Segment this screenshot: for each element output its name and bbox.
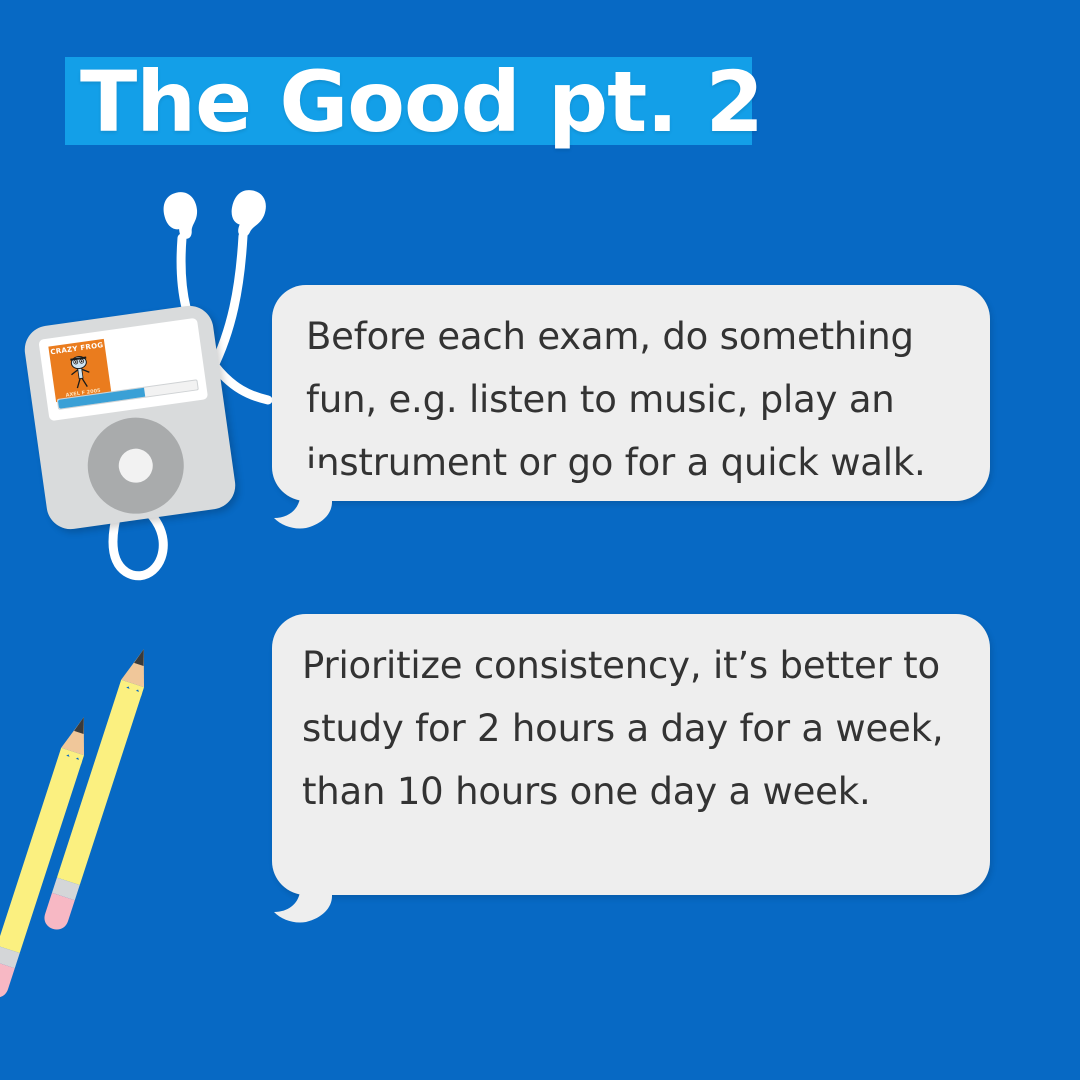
tip-bubble-1-text: Before each exam, do something fun, e.g.… (306, 305, 956, 494)
tip-bubble-1-tail (272, 468, 350, 530)
tip-bubble-2-text: Prioritize consistency, it’s better to s… (302, 634, 960, 823)
tip-bubble-1: Before each exam, do something fun, e.g.… (272, 285, 990, 501)
page-title: The Good pt. 2 (80, 47, 780, 157)
pencils-illustration (10, 630, 270, 1000)
album-title: CRAZY FROG (49, 341, 106, 357)
tip-bubble-2: Prioritize consistency, it’s better to s… (272, 614, 990, 895)
ipod-center-button[interactable] (117, 446, 155, 484)
tip-bubble-2-tail (272, 862, 350, 924)
poster-canvas: The Good pt. 2 CRAZY FROG (0, 0, 1080, 1080)
ipod-body: CRAZY FROG AXEL F 2005 (22, 303, 239, 532)
ipod-click-wheel[interactable] (82, 411, 190, 519)
ipod-screen: CRAZY FROG AXEL F 2005 (38, 318, 208, 421)
crazy-frog-figure-icon (66, 354, 94, 391)
